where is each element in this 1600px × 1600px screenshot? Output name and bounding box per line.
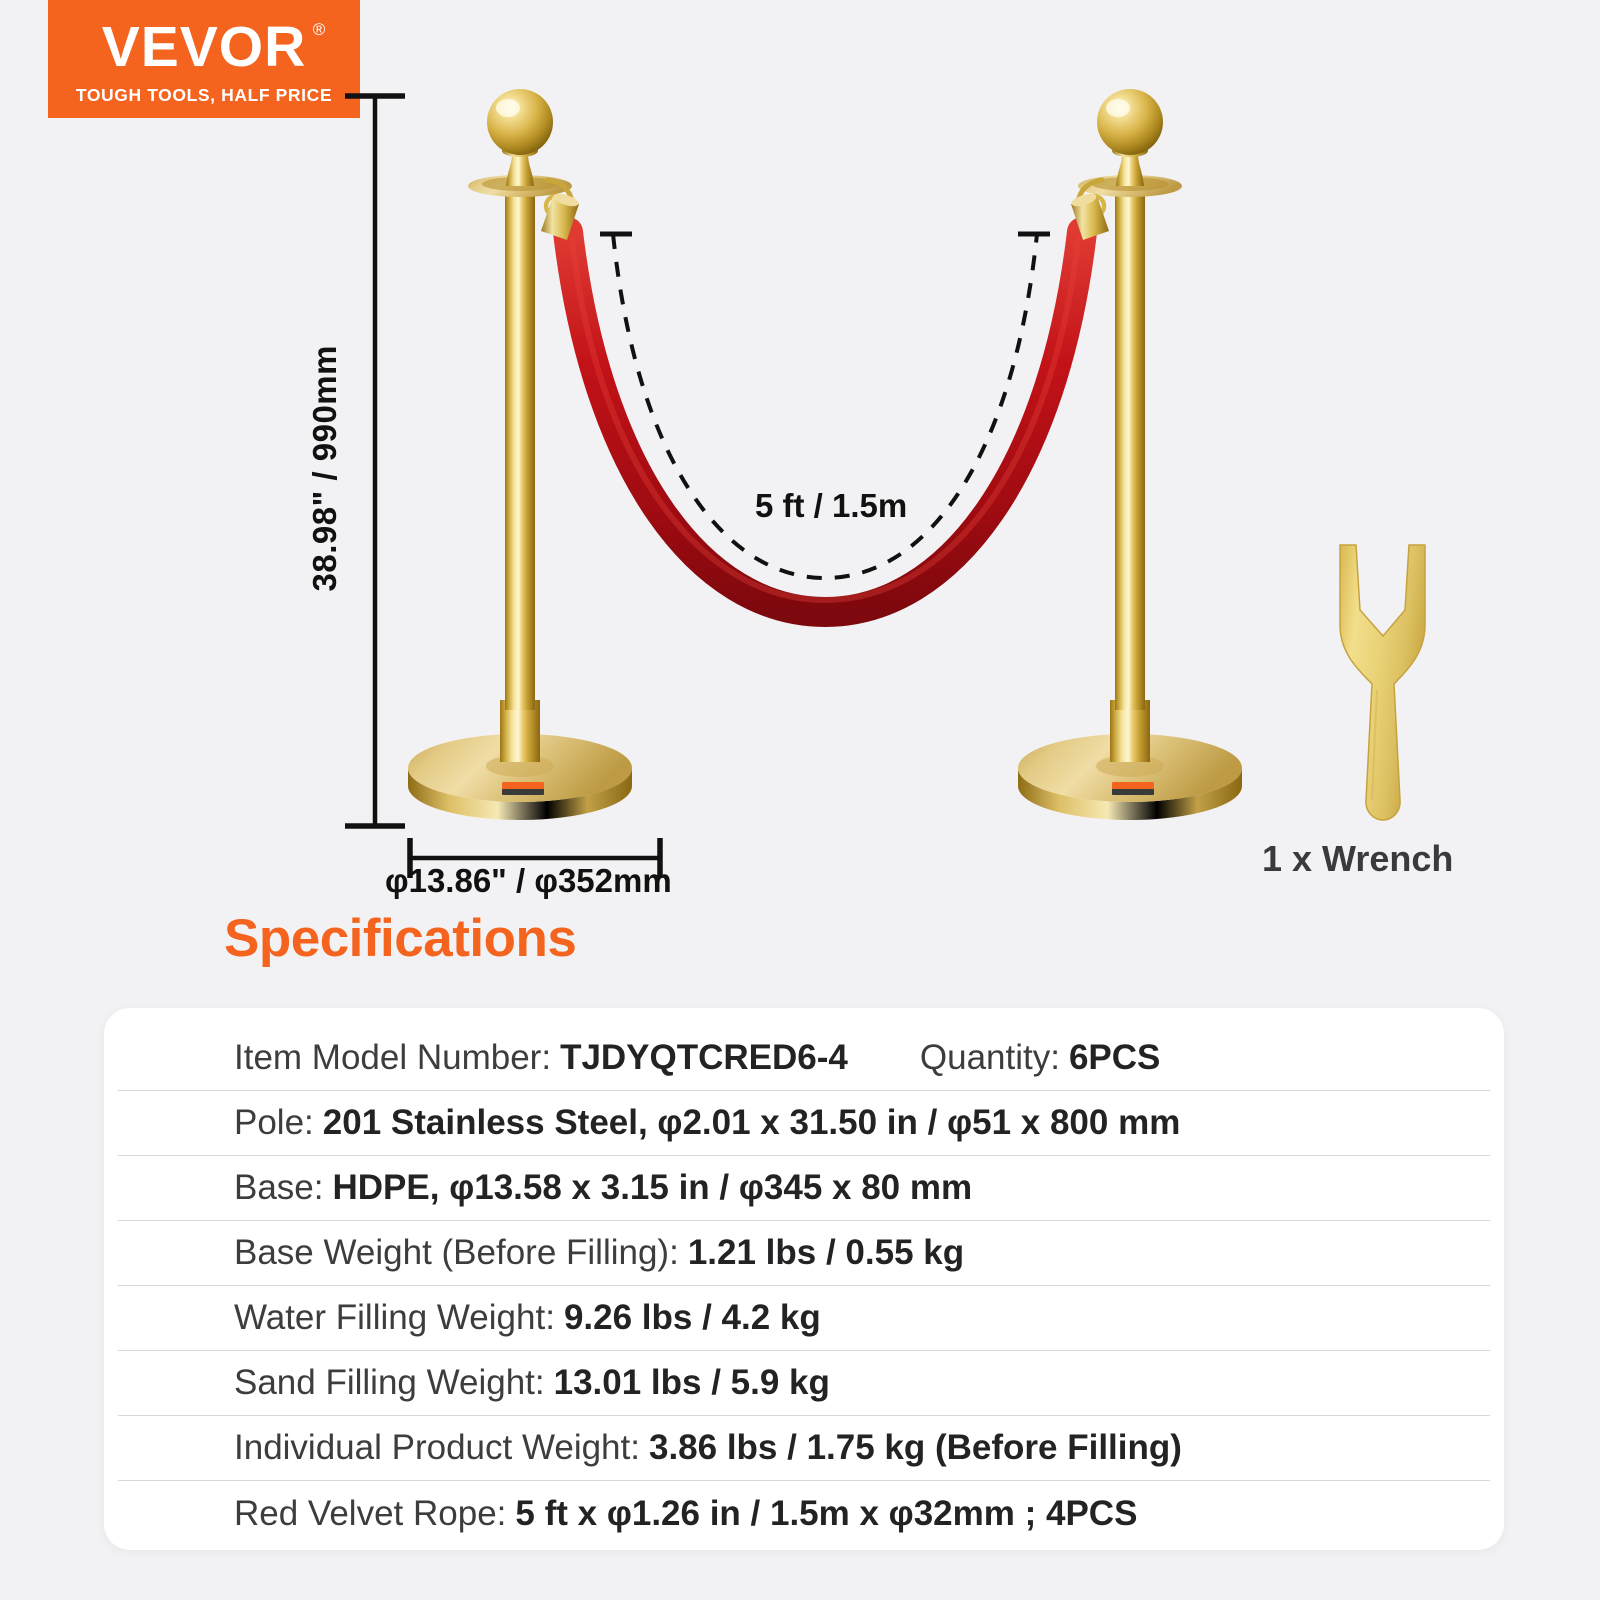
spec-key-quantity: Quantity: bbox=[920, 1038, 1060, 1078]
spec-key: Item Model Number: bbox=[234, 1038, 551, 1078]
stanchion-left bbox=[408, 89, 632, 820]
height-dimension-line bbox=[345, 96, 405, 826]
base-sticker-strip-right bbox=[1112, 789, 1154, 795]
spec-value-quantity: 6PCS bbox=[1069, 1038, 1160, 1078]
spec-key: Base: bbox=[234, 1168, 324, 1208]
spec-row-base: Base: HDPE, φ13.58 x 3.15 in / φ345 x 80… bbox=[118, 1156, 1490, 1221]
spec-key: Sand Filling Weight: bbox=[234, 1363, 545, 1403]
spec-value: 3.86 lbs / 1.75 kg (Before Filling) bbox=[649, 1428, 1182, 1468]
spec-row-model-number: Item Model Number: TJDYQTCRED6-4 Quantit… bbox=[118, 1026, 1490, 1091]
ball-finial-right bbox=[1097, 89, 1163, 155]
stanchion-diagram-svg bbox=[0, 0, 1600, 960]
height-dimension-label: 38.98" / 990mm bbox=[306, 345, 344, 591]
finial-neck-right bbox=[1116, 152, 1144, 186]
specifications-card: Item Model Number: TJDYQTCRED6-4 Quantit… bbox=[104, 1008, 1504, 1550]
ball-finial-left bbox=[487, 89, 553, 155]
spec-value: TJDYQTCRED6-4 bbox=[560, 1038, 848, 1078]
spec-row-individual-product-weight: Individual Product Weight: 3.86 lbs / 1.… bbox=[118, 1416, 1490, 1481]
rope-highlight bbox=[572, 240, 1078, 600]
rope-length-label: 5 ft / 1.5m bbox=[755, 487, 907, 525]
spec-row-water-filling-weight: Water Filling Weight: 9.26 lbs / 4.2 kg bbox=[118, 1286, 1490, 1351]
wrench-body bbox=[1340, 545, 1425, 820]
spec-value: 9.26 lbs / 4.2 kg bbox=[564, 1298, 821, 1338]
ball-highlight-left bbox=[496, 99, 520, 117]
base-sticker-strip-left bbox=[502, 789, 544, 795]
wrench-quantity-label: 1 x Wrench bbox=[1262, 838, 1453, 880]
spec-value: 1.21 lbs / 0.55 kg bbox=[688, 1233, 964, 1273]
pole-left bbox=[505, 190, 535, 710]
base-diameter-label: φ13.86" / φ352mm bbox=[385, 862, 672, 900]
spec-row-pole: Pole: 201 Stainless Steel, φ2.01 x 31.50… bbox=[118, 1091, 1490, 1156]
spec-row-sand-filling-weight: Sand Filling Weight: 13.01 lbs / 5.9 kg bbox=[118, 1351, 1490, 1416]
spec-key: Base Weight (Before Filling): bbox=[234, 1233, 679, 1273]
spec-key: Red Velvet Rope: bbox=[234, 1494, 506, 1534]
spec-value: 5 ft x φ1.26 in / 1.5m x φ32mm ; 4PCS bbox=[515, 1494, 1137, 1534]
rope-body bbox=[568, 232, 1082, 612]
red-velvet-rope bbox=[541, 191, 1109, 612]
pole-right bbox=[1115, 190, 1145, 710]
specifications-heading: Specifications bbox=[224, 908, 576, 969]
spec-row-red-velvet-rope: Red Velvet Rope: 5 ft x φ1.26 in / 1.5m … bbox=[118, 1481, 1490, 1546]
spec-key: Water Filling Weight: bbox=[234, 1298, 555, 1338]
wrench-accessory bbox=[1340, 545, 1425, 820]
spec-key: Individual Product Weight: bbox=[234, 1428, 640, 1468]
ball-highlight-right bbox=[1106, 99, 1130, 117]
product-illustration: 38.98" / 990mm φ13.86" / φ352mm 5 ft / 1… bbox=[0, 0, 1600, 960]
spec-value: HDPE, φ13.58 x 3.15 in / φ345 x 80 mm bbox=[333, 1168, 973, 1208]
spec-value: 13.01 lbs / 5.9 kg bbox=[554, 1363, 830, 1403]
spec-value: 201 Stainless Steel, φ2.01 x 31.50 in / … bbox=[323, 1103, 1181, 1143]
finial-neck-left bbox=[506, 152, 534, 186]
stanchion-right bbox=[1018, 89, 1242, 820]
spec-key: Pole: bbox=[234, 1103, 314, 1143]
spec-row-base-weight: Base Weight (Before Filling): 1.21 lbs /… bbox=[118, 1221, 1490, 1286]
